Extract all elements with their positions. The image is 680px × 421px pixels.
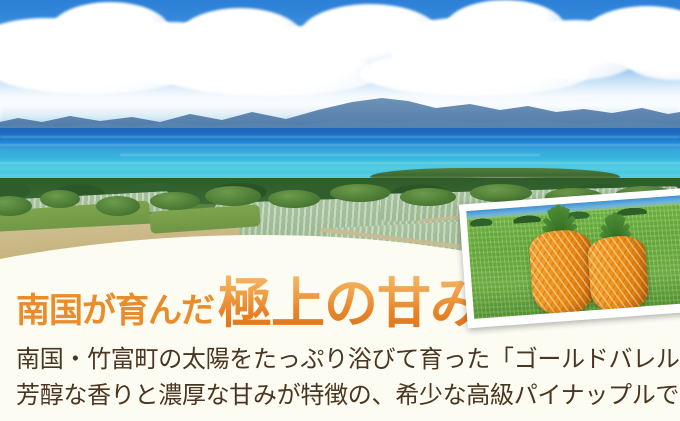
- pineapple-fruit: [528, 228, 596, 316]
- headline-emphasis: 極上の甘み: [218, 274, 483, 334]
- sea-highlight: [120, 154, 540, 156]
- bush: [205, 186, 261, 206]
- bush: [96, 196, 140, 216]
- pineapple-photo-frame: [459, 188, 680, 329]
- pineapple-fruit: [587, 234, 650, 314]
- description-line-1: 南国・竹富町の太陽をたっぷり浴びて育った「ゴールドバレル」。: [16, 342, 680, 378]
- sea-highlight: [0, 144, 680, 146]
- pineapple-photo: [466, 195, 680, 319]
- bush: [400, 188, 456, 206]
- bush: [268, 190, 320, 208]
- banner-root: 南国が育んだ極上の甘み 南国・竹富町の太陽をたっぷり浴びて育った「ゴールドバレル…: [0, 0, 680, 421]
- sea-highlight: [0, 162, 680, 164]
- headline-lead: 南国が育んだ: [16, 293, 214, 330]
- bush: [40, 190, 80, 208]
- description-line-2: 芳醇な香りと濃厚な甘みが特徴の、希少な高級パイナップルです。: [16, 378, 680, 414]
- pineapple-right: [587, 234, 650, 314]
- sea-highlight: [0, 136, 680, 138]
- description: 南国・竹富町の太陽をたっぷり浴びて育った「ゴールドバレル」。 芳醇な香りと濃厚な…: [16, 342, 680, 414]
- pineapple-left: [528, 228, 596, 316]
- page-title: 南国が育んだ極上の甘み: [16, 277, 483, 331]
- distant-mountains: [0, 92, 680, 132]
- bush: [150, 192, 200, 210]
- bush: [330, 184, 390, 202]
